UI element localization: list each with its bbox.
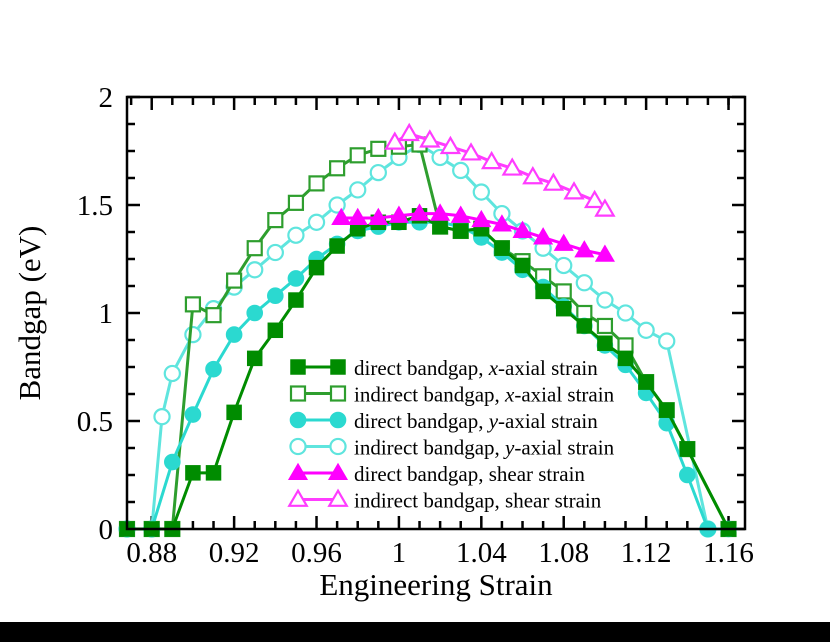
x-tick-label: 1.04 [456,537,507,569]
data-point-marker [330,239,344,253]
data-point-marker [453,163,468,178]
data-point-marker [330,412,345,427]
data-point-marker [165,366,180,381]
legend-item-label: indirect bandgap, y-axial strain [354,436,615,460]
data-point-marker [371,142,385,156]
data-point-marker [557,284,571,298]
data-point-marker [207,466,221,480]
data-point-marker [268,323,282,337]
data-point-marker [598,319,612,333]
data-point-marker [495,241,509,255]
data-point-marker [330,439,345,454]
x-tick-label: 0.92 [209,537,260,569]
data-point-marker [331,387,345,401]
data-point-marker [350,182,365,197]
chart-page: 0.880.920.9611.041.081.121.16 00.511.52 … [0,0,830,642]
data-point-marker [289,293,303,307]
data-point-marker [660,403,674,417]
data-point-marker [351,148,365,162]
data-point-marker [577,319,591,333]
data-point-marker [619,351,633,365]
data-point-marker [680,442,694,456]
y-tick-label: 0 [99,514,114,546]
data-point-marker [454,224,468,238]
x-tick-label: 1 [392,537,407,569]
x-tick-label: 0.88 [126,537,177,569]
legend-item-label: direct bandgap, shear strain [354,462,585,486]
bandgap-vs-strain-chart: 0.880.920.9611.041.081.121.16 00.511.52 … [0,0,830,642]
data-point-marker [310,176,324,190]
data-point-marker [619,338,633,352]
legend-item-label: direct bandgap, y-axial strain [354,409,598,433]
data-point-marker [248,351,262,365]
data-point-marker [659,334,674,349]
data-point-marker [207,308,221,322]
data-point-marker [290,439,305,454]
x-tick-label: 1.12 [621,537,672,569]
data-point-marker [577,275,592,290]
data-point-marker [433,220,447,234]
data-point-marker [288,228,303,243]
data-point-marker [639,323,654,338]
data-point-marker [474,184,489,199]
x-axis-title: Engineering Strain [319,567,553,602]
data-point-marker [185,407,200,422]
data-point-marker [618,305,633,320]
data-point-marker [331,360,345,374]
data-point-marker [165,454,180,469]
data-point-marker [268,288,283,303]
data-point-marker [680,467,695,482]
y-tick-label: 1.5 [77,190,113,222]
data-point-marker [227,274,241,288]
data-point-marker [290,412,305,427]
data-point-marker [154,409,169,424]
data-point-marker [247,305,262,320]
data-point-marker [185,327,200,342]
legend-item-label: indirect bandgap, x-axial strain [354,383,615,407]
data-point-marker [330,161,344,175]
data-point-marker [536,284,550,298]
data-point-marker [268,213,282,227]
data-point-marker [206,362,221,377]
data-point-marker [288,271,303,286]
data-point-marker [248,241,262,255]
data-point-marker [247,262,262,277]
data-point-marker [289,196,303,210]
data-point-marker [291,387,305,401]
data-point-marker [227,405,241,419]
legend-item-label: indirect bandgap, shear strain [354,489,602,513]
data-point-marker [186,297,200,311]
data-point-marker [227,327,242,342]
data-point-marker [371,165,386,180]
y-tick-label: 0.5 [77,406,113,438]
data-point-marker [309,215,324,230]
data-point-marker [556,258,571,273]
y-tick-label: 2 [99,82,114,114]
y-tick-label: 1 [99,298,114,330]
legend-item-label: direct bandgap, x-axial strain [354,356,598,380]
data-point-marker [186,466,200,480]
x-tick-label: 1.16 [703,537,754,569]
data-point-marker [291,360,305,374]
x-tick-label: 1.08 [538,537,589,569]
data-point-marker [557,302,571,316]
data-point-marker [598,336,612,350]
x-tick-label: 0.96 [291,537,342,569]
data-point-marker [516,258,530,272]
data-point-marker [310,261,324,275]
data-point-marker [597,292,612,307]
data-point-marker [268,245,283,260]
y-axis-title: Bandgap (eV) [12,226,47,401]
data-point-marker [639,375,653,389]
footer-bar [0,622,830,642]
